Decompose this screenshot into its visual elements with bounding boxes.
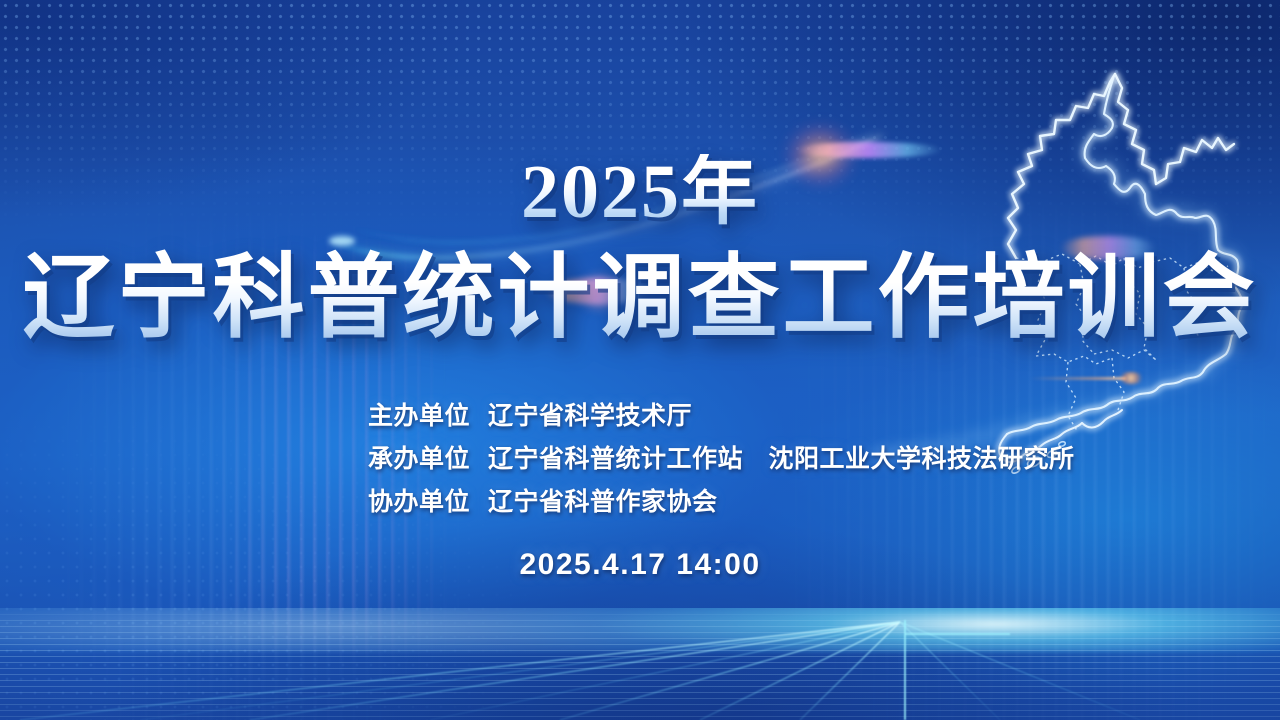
organizer-row: 承办单位辽宁省科普统计工作站 沈阳工业大学科技法研究所 — [368, 438, 1075, 481]
poster-canvas: 2025年 辽宁科普统计调查工作培训会 主办单位辽宁省科学技术厅 承办单位辽宁省… — [0, 0, 1280, 720]
event-datetime: 2025.4.17 14:00 — [0, 548, 1280, 582]
event-year: 2025年 — [0, 154, 1280, 230]
organizer-role: 承办单位 — [368, 445, 470, 473]
organizer-role: 协办单位 — [368, 488, 470, 516]
organizer-list: 主办单位辽宁省科学技术厅 承办单位辽宁省科普统计工作站 沈阳工业大学科技法研究所… — [368, 395, 1075, 524]
organizer-names: 辽宁省科学技术厅 — [488, 402, 692, 430]
page-title: 辽宁科普统计调查工作培训会 — [0, 249, 1280, 348]
organizer-row: 协办单位辽宁省科普作家协会 — [368, 481, 1075, 524]
organizer-row: 主办单位辽宁省科学技术厅 — [368, 395, 1075, 438]
organizer-names: 辽宁省科普统计工作站 沈阳工业大学科技法研究所 — [488, 445, 1075, 473]
organizer-names: 辽宁省科普作家协会 — [488, 488, 718, 516]
organizer-role: 主办单位 — [368, 402, 470, 430]
